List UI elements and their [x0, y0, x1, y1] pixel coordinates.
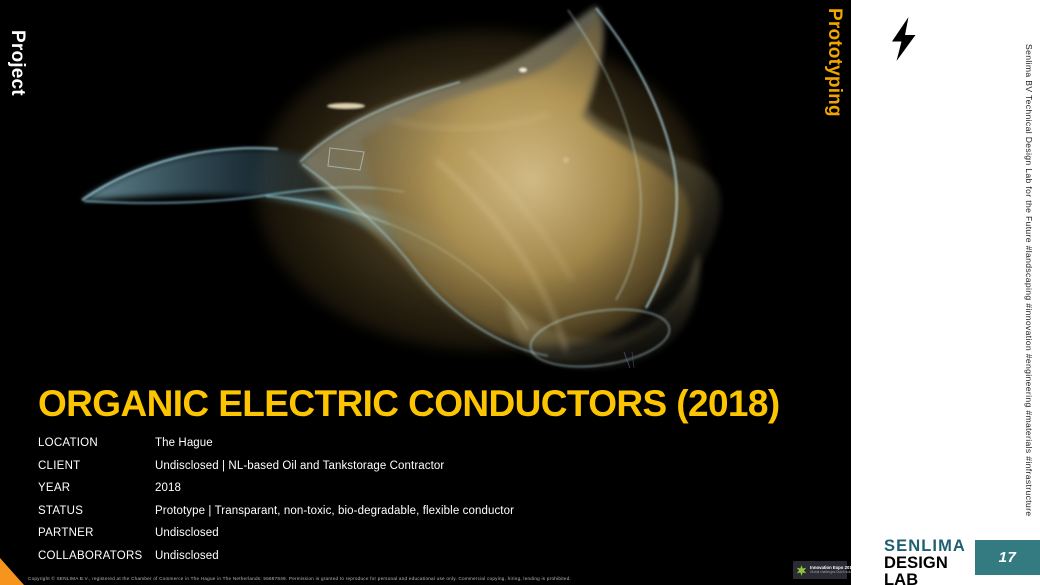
table-row: LOCATION The Hague — [38, 437, 738, 460]
expo-badge-text: Innovation Expo 2018 Global challenges D… — [810, 566, 851, 575]
meta-key-client: CLIENT — [38, 460, 155, 472]
meta-value-partner: Undisclosed — [155, 527, 219, 539]
section-label-project: Project — [6, 30, 28, 96]
table-row: PARTNER Undisclosed — [38, 527, 738, 550]
table-row: YEAR 2018 — [38, 482, 738, 505]
expo-star-icon — [795, 564, 808, 577]
copyright-notice: Copyright © SENLIMA B.V., registered at … — [28, 576, 571, 581]
table-row: CLIENT Undisclosed | NL-based Oil and Ta… — [38, 460, 738, 483]
senlima-design-lab-logo: SENLIMA DESIGN LAB — [884, 538, 972, 585]
meta-key-collaborators: COLLABORATORS — [38, 550, 155, 562]
table-row: COLLABORATORS Undisclosed — [38, 550, 738, 573]
meta-value-collaborators: Undisclosed — [155, 550, 219, 562]
right-rail — [851, 0, 1040, 585]
table-row: STATUS Prototype | Transparant, non-toxi… — [38, 505, 738, 528]
slide-black-canvas: Project Prototyping ORGANIC ELECTRIC CON… — [0, 0, 851, 585]
rail-tagline: Senlima BV Technical Design Lab for the … — [1024, 44, 1034, 516]
slide-root: Project Prototyping ORGANIC ELECTRIC CON… — [0, 0, 1040, 585]
page-number: 17 — [999, 549, 1017, 566]
logo-line-senlima: SENLIMA — [884, 538, 972, 555]
orange-corner-triangle — [0, 558, 24, 585]
meta-key-status: STATUS — [38, 505, 155, 517]
logo-line-design-lab: DESIGN LAB — [884, 555, 972, 585]
meta-value-year: 2018 — [155, 482, 181, 494]
meta-key-location: LOCATION — [38, 437, 155, 449]
page-title: ORGANIC ELECTRIC CONDUCTORS (2018) — [38, 383, 780, 425]
expo-badge-subtitle: Global challenges Dutch solutions — [810, 571, 851, 575]
page-number-badge: 17 — [975, 540, 1040, 575]
meta-key-partner: PARTNER — [38, 527, 155, 539]
lightning-bolt-icon — [884, 16, 924, 62]
meta-value-client: Undisclosed | NL-based Oil and Tankstora… — [155, 460, 444, 472]
category-label-prototyping: Prototyping — [823, 8, 845, 117]
innovation-expo-badge: Innovation Expo 2018 Global challenges D… — [793, 561, 847, 579]
project-meta-table: LOCATION The Hague CLIENT Undisclosed | … — [38, 437, 738, 572]
meta-key-year: YEAR — [38, 482, 155, 494]
project-photo — [0, 0, 851, 372]
meta-value-status: Prototype | Transparant, non-toxic, bio-… — [155, 505, 514, 517]
meta-value-location: The Hague — [155, 437, 213, 449]
